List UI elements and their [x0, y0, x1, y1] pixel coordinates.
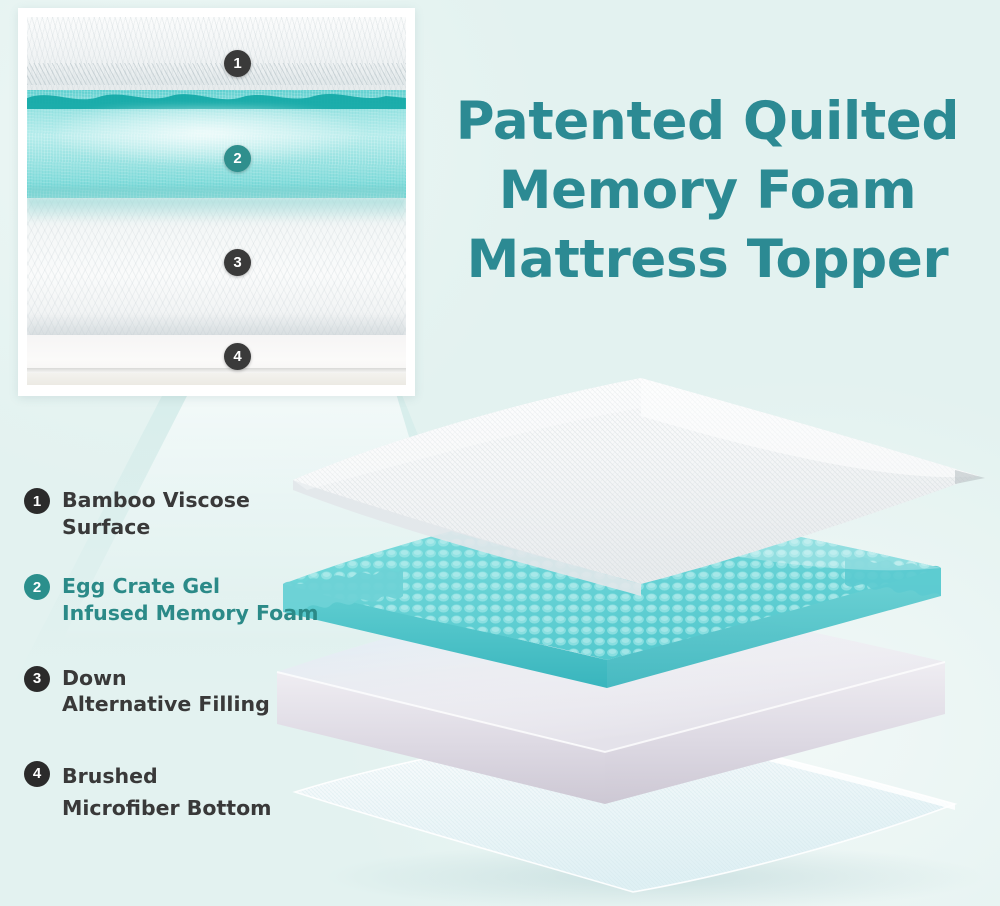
photo-pin-4: 4	[224, 343, 251, 370]
photo-pin-3: 3	[224, 249, 251, 276]
legend-label-3: Down Alternative Filling	[62, 665, 270, 718]
title-line-2: Memory Foam	[430, 157, 985, 226]
cross-section-photo: 1 2 3 4	[27, 17, 406, 385]
cross-section-photo-frame: 1 2 3 4	[18, 8, 415, 396]
photo-layer-gel-foam-highlight	[57, 105, 368, 167]
product-infographic: 1 2 3 4 Patented Quilted Memory Foam Mat…	[0, 0, 1000, 906]
legend-label-3-line-2: Alternative Filling	[62, 691, 270, 718]
legend-label-1-line-1: Bamboo Viscose	[62, 487, 250, 514]
layer-legend: 1 Bamboo Viscose Surface 2 Egg Crate Gel…	[24, 487, 344, 825]
legend-item-brushed-microfiber-bottom: 4 Brushed Microfiber Bottom	[24, 760, 344, 825]
legend-item-bamboo-viscose-surface: 1 Bamboo Viscose Surface	[24, 487, 344, 540]
legend-label-4-line-1: Brushed	[62, 760, 272, 792]
legend-badge-1: 1	[24, 488, 50, 514]
photo-layer-down-filling-tint	[27, 198, 406, 222]
legend-label-1-line-2: Surface	[62, 514, 250, 541]
legend-label-4-line-2: Microfiber Bottom	[62, 792, 272, 824]
photo-pin-1: 1	[224, 50, 251, 77]
legend-label-1: Bamboo Viscose Surface	[62, 487, 250, 540]
legend-badge-3: 3	[24, 666, 50, 692]
legend-label-4: Brushed Microfiber Bottom	[62, 760, 272, 825]
photo-pin-2: 2	[224, 145, 251, 172]
title-line-1: Patented Quilted	[430, 88, 985, 157]
photo-layer-quilt-seam	[27, 63, 406, 85]
exploded-layer-illustration	[255, 372, 1000, 906]
legend-label-3-line-1: Down	[62, 665, 270, 692]
legend-badge-2: 2	[24, 574, 50, 600]
page-title: Patented Quilted Memory Foam Mattress To…	[430, 88, 985, 295]
legend-item-down-alternative-filling: 3 Down Alternative Filling	[24, 665, 344, 718]
legend-label-2: Egg Crate Gel Infused Memory Foam	[62, 573, 318, 626]
legend-item-egg-crate-gel-foam: 2 Egg Crate Gel Infused Memory Foam	[24, 573, 344, 626]
legend-label-2-line-2: Infused Memory Foam	[62, 600, 318, 627]
legend-label-2-line-1: Egg Crate Gel	[62, 573, 318, 600]
legend-badge-4: 4	[24, 761, 50, 787]
title-line-3: Mattress Topper	[430, 226, 985, 295]
